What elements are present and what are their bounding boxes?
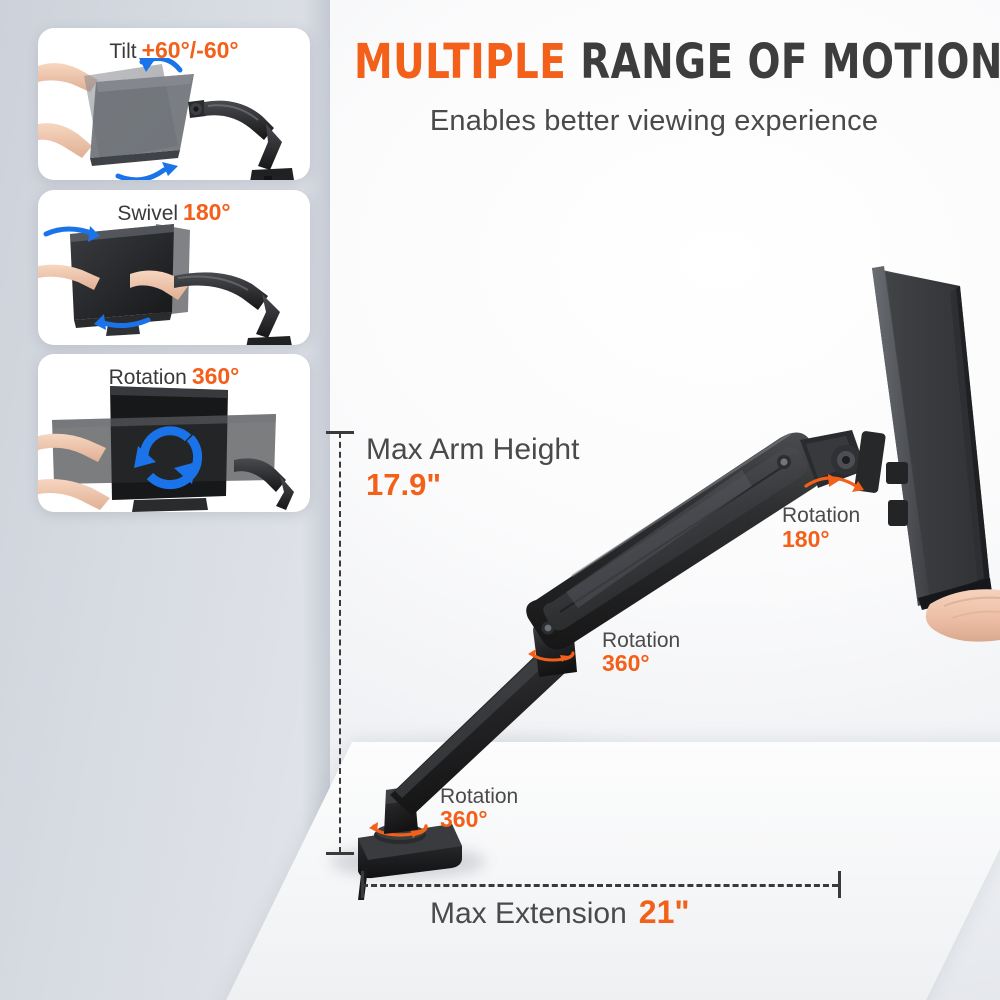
feature-card-swivel[interactable]: Swivel180° <box>38 190 310 345</box>
infographic-canvas: MULTIPLE RANGE OF MOTION Enables better … <box>0 0 1000 1000</box>
monitor-head-joint <box>800 430 886 493</box>
card-swivel-art <box>38 220 310 345</box>
tilt-arrow-bottom-icon <box>118 162 178 180</box>
callout-base-rotation: Rotation 360° <box>440 786 518 832</box>
callout-base-label: Rotation <box>440 786 518 808</box>
card-tilt-art <box>38 58 310 180</box>
head-rotation-arrow-icon <box>806 474 864 492</box>
extension-value: 21" <box>639 894 690 930</box>
mid-rotation-ring-icon <box>528 649 573 662</box>
feature-card-tilt[interactable]: Tilt+60°/-60° <box>38 28 310 180</box>
callout-head-label: Rotation <box>782 505 860 527</box>
dim-line-horizontal <box>362 884 838 887</box>
callout-mid-value: 360° <box>602 652 680 676</box>
dim-cap-right <box>838 871 841 898</box>
title-rest: RANGE OF MOTION <box>566 34 1000 90</box>
arm-height-text: Max Arm Height <box>366 434 579 466</box>
extension-text: Max Extension <box>430 897 627 930</box>
callout-mid-label: Rotation <box>602 630 680 652</box>
max-extension-label: Max Extension21" <box>430 896 690 930</box>
card-rotation-art <box>38 384 310 512</box>
supporting-hand <box>926 589 1000 641</box>
dim-cap-bottom <box>326 852 354 855</box>
monitor-screen <box>872 266 992 610</box>
page-title: MULTIPLE RANGE OF MOTION <box>318 38 990 86</box>
callout-mid-rotation: Rotation 360° <box>602 630 680 676</box>
mid-joint <box>533 622 577 677</box>
max-arm-height-label: Max Arm Height 17.9" <box>366 434 579 501</box>
feature-card-rotation[interactable]: Rotation360° <box>38 354 310 512</box>
dim-line-vertical <box>339 432 341 853</box>
page-subtitle: Enables better viewing experience <box>318 105 990 138</box>
callout-base-value: 360° <box>440 808 518 832</box>
callout-head-rotation: Rotation 180° <box>782 505 860 552</box>
title-highlight: MULTIPLE <box>354 34 566 90</box>
callout-head-value: 180° <box>782 528 860 552</box>
arm-height-value: 17.9" <box>366 469 579 502</box>
